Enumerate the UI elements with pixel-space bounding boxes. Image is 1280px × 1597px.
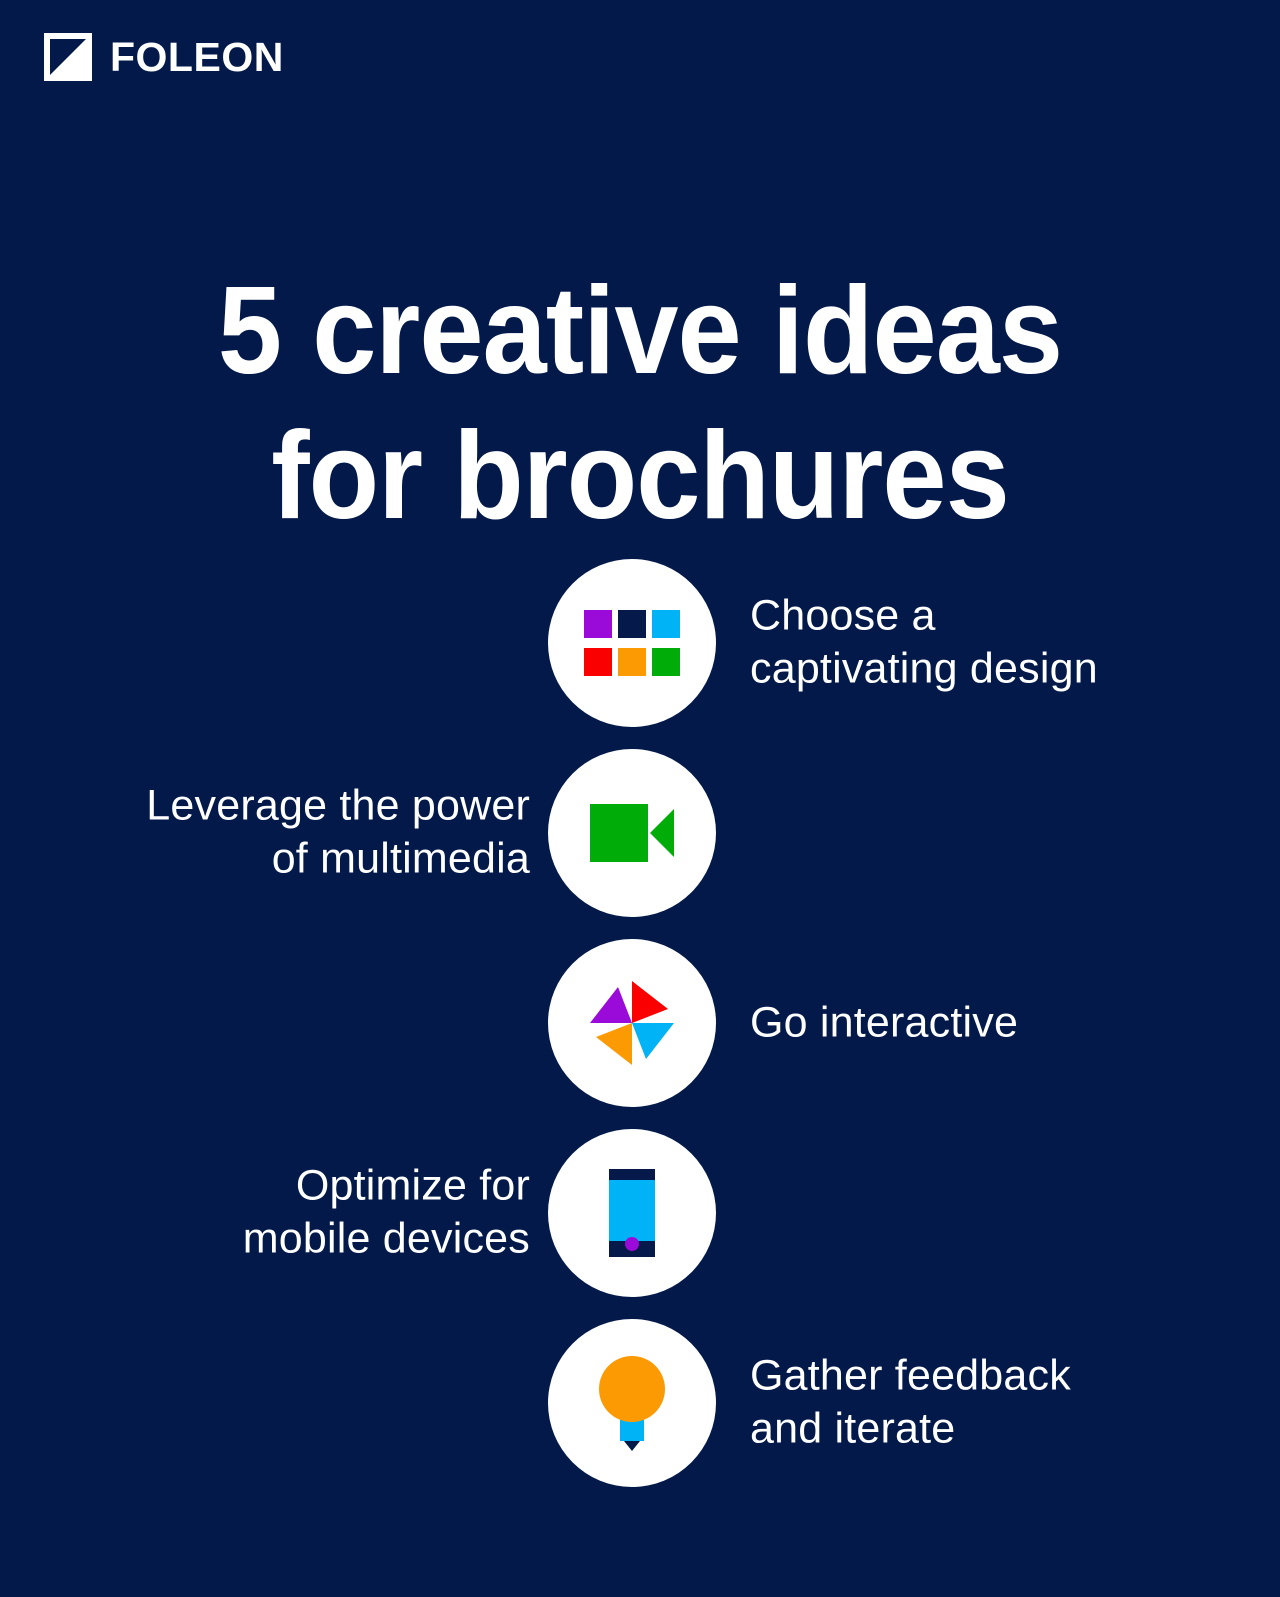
step-icon-badge xyxy=(548,1129,716,1297)
video-camera-icon xyxy=(590,804,674,862)
page-title: 5 creative ideas for brochures xyxy=(45,259,1235,549)
brand-wordmark: FOLEON xyxy=(110,37,284,78)
step-icon-badge xyxy=(548,1319,716,1487)
step-label-line-2: and iterate xyxy=(750,1403,1220,1456)
step-icon-badge xyxy=(548,559,716,727)
step-label-line-2: captivating design xyxy=(750,643,1220,696)
step-label-line-2: of multimedia xyxy=(30,833,530,886)
step-label-line-1: Choose a xyxy=(750,590,1220,643)
step-label-line-2: mobile devices xyxy=(30,1213,530,1266)
step-label: Gather feedback and iterate xyxy=(750,1350,1220,1457)
list-item: Gather feedback and iterate xyxy=(0,1308,1280,1498)
step-label-line-1: Leverage the power xyxy=(30,780,530,833)
step-label: Choose a captivating design xyxy=(750,590,1220,697)
step-label: Go interactive xyxy=(750,996,1220,1049)
page-title-line-1: 5 creative ideas xyxy=(45,259,1235,404)
foleon-triangle-mark-icon xyxy=(44,33,92,81)
step-label-line-1: Optimize for xyxy=(30,1160,530,1213)
list-item: Choose a captivating design xyxy=(0,548,1280,738)
list-item: Leverage the power of multimedia xyxy=(0,738,1280,928)
list-item: Optimize for mobile devices xyxy=(0,1118,1280,1308)
mobile-phone-icon xyxy=(609,1169,655,1257)
step-icon-badge xyxy=(548,939,716,1107)
lightbulb-icon xyxy=(598,1355,666,1451)
step-icon-badge xyxy=(548,749,716,917)
step-label: Optimize for mobile devices xyxy=(30,1160,530,1267)
pinwheel-icon xyxy=(584,975,680,1071)
color-grid-icon xyxy=(584,610,680,676)
page-title-line-2: for brochures xyxy=(45,404,1235,549)
list-item: Go interactive xyxy=(0,928,1280,1118)
step-label: Leverage the power of multimedia xyxy=(30,780,530,887)
step-label-line-1: Gather feedback xyxy=(750,1350,1220,1403)
brand-logo[interactable]: FOLEON xyxy=(44,33,284,81)
steps-list: Choose a captivating design Leverage the… xyxy=(0,548,1280,1498)
step-label-line-1: Go interactive xyxy=(750,996,1220,1049)
